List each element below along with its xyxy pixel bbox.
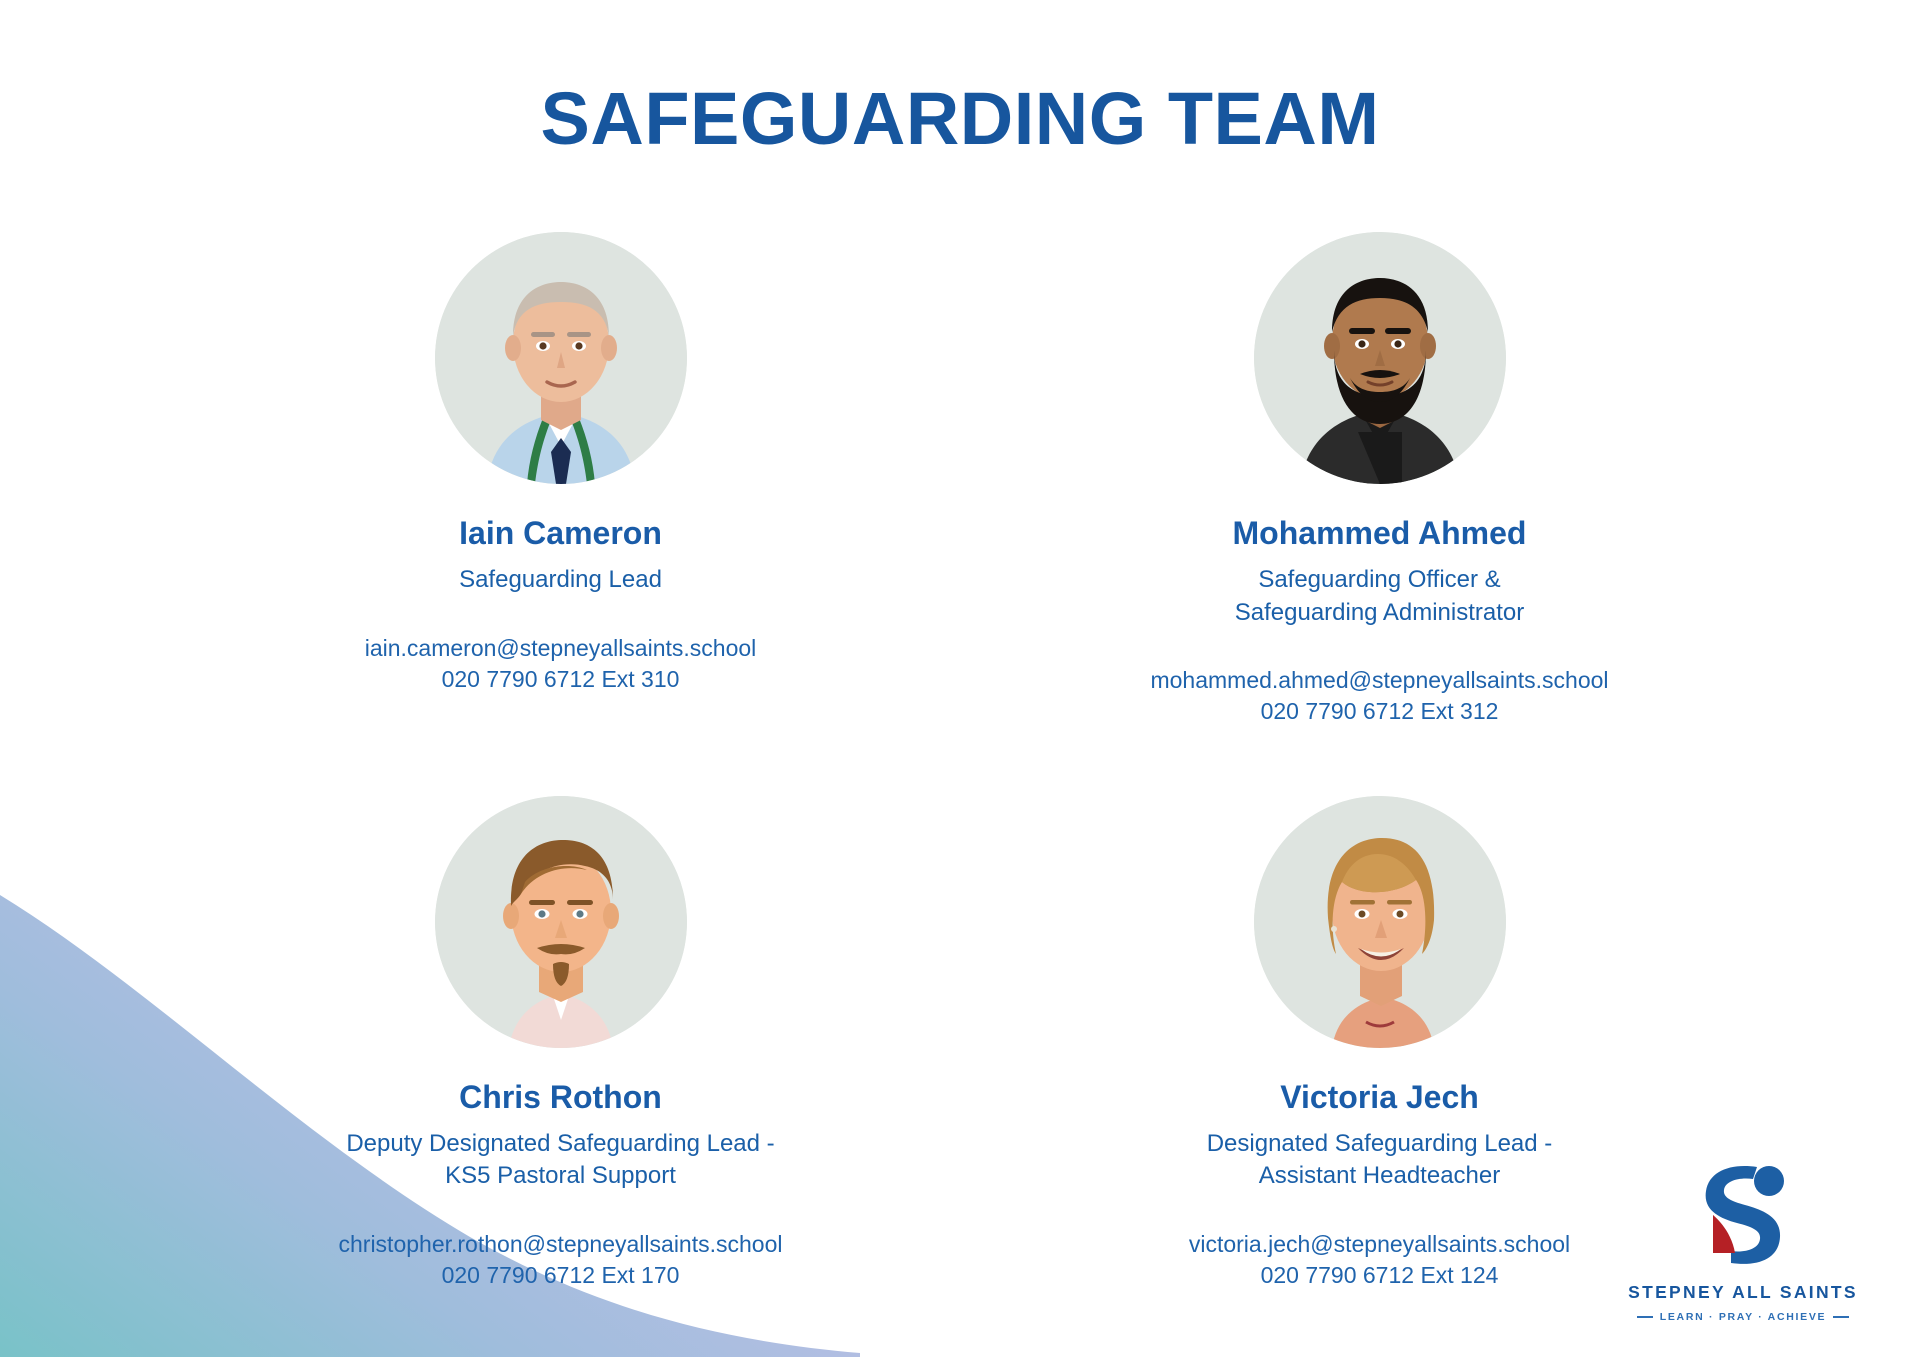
member-role: Safeguarding Lead (459, 564, 662, 596)
page-title: SAFEGUARDING TEAM (0, 76, 1920, 161)
member-contact: mohammed.ahmed@stepneyallsaints.school 0… (1150, 665, 1608, 728)
member-email[interactable]: victoria.jech@stepneyallsaints.school (1189, 1231, 1570, 1257)
member-email[interactable]: christopher.rothon@stepneyallsaints.scho… (339, 1231, 783, 1257)
team-member-card: Mohammed Ahmed Safeguarding Officer &Saf… (1029, 232, 1730, 728)
avatar (435, 796, 687, 1048)
member-contact: christopher.rothon@stepneyallsaints.scho… (339, 1229, 783, 1292)
member-name: Victoria Jech (1280, 1078, 1479, 1116)
logo-tagline: LEARN · PRAY · ACHIEVE (1618, 1311, 1868, 1323)
member-role: Safeguarding Officer &Safeguarding Admin… (1235, 564, 1525, 629)
member-name: Iain Cameron (459, 514, 662, 552)
avatar (435, 232, 687, 484)
avatar (1254, 796, 1506, 1048)
tagline-dash-right (1833, 1316, 1849, 1318)
avatar (1254, 232, 1506, 484)
member-phone[interactable]: 020 7790 6712 Ext 124 (1189, 1260, 1570, 1291)
stepney-s-monogram-icon (1618, 1161, 1868, 1265)
team-member-card: Iain Cameron Safeguarding Lead iain.came… (210, 232, 911, 728)
member-name: Chris Rothon (459, 1078, 662, 1116)
member-role: Designated Safeguarding Lead -Assistant … (1207, 1128, 1553, 1193)
team-grid: Iain Cameron Safeguarding Lead iain.came… (210, 232, 1730, 1291)
team-member-card: Chris Rothon Deputy Designated Safeguard… (210, 796, 911, 1292)
tagline-text: LEARN · PRAY · ACHIEVE (1660, 1311, 1827, 1323)
safeguarding-team-poster: SAFEGUARDING TEAM (0, 0, 1920, 1357)
tagline-dash-left (1637, 1316, 1653, 1318)
member-contact: iain.cameron@stepneyallsaints.school 020… (365, 633, 757, 696)
member-email[interactable]: iain.cameron@stepneyallsaints.school (365, 635, 757, 661)
school-logo: STEPNEY ALL SAINTS LEARN · PRAY · ACHIEV… (1618, 1161, 1868, 1323)
logo-school-name: STEPNEY ALL SAINTS (1618, 1282, 1868, 1303)
member-phone[interactable]: 020 7790 6712 Ext 170 (339, 1260, 783, 1291)
member-phone[interactable]: 020 7790 6712 Ext 310 (365, 664, 757, 695)
member-role: Deputy Designated Safeguarding Lead -KS5… (346, 1128, 774, 1193)
member-email[interactable]: mohammed.ahmed@stepneyallsaints.school (1150, 667, 1608, 693)
member-contact: victoria.jech@stepneyallsaints.school 02… (1189, 1229, 1570, 1292)
member-phone[interactable]: 020 7790 6712 Ext 312 (1150, 696, 1608, 727)
member-name: Mohammed Ahmed (1233, 514, 1527, 552)
